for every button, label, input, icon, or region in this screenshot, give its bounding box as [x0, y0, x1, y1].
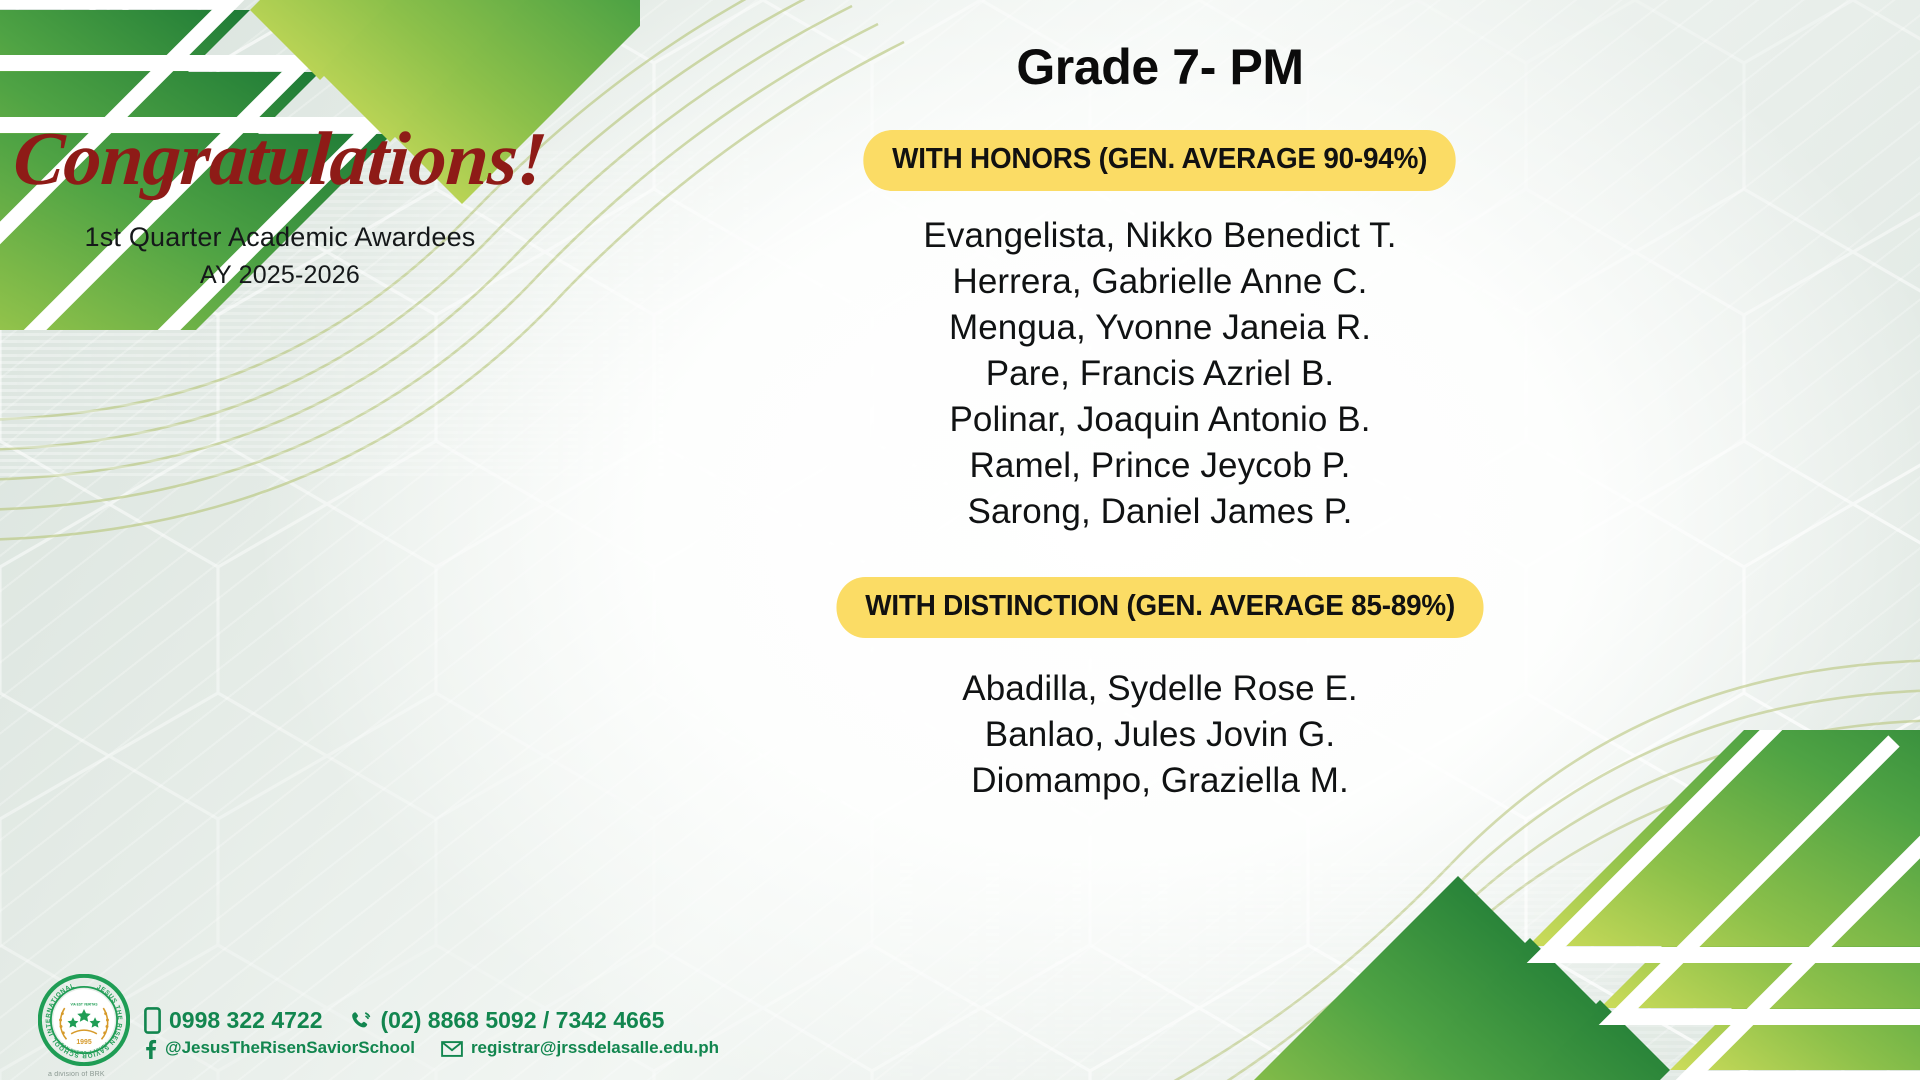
- honors-name-list: Evangelista, Nikko Benedict T. Herrera, …: [660, 213, 1660, 535]
- list-item: Polinar, Joaquin Antonio B.: [660, 397, 1660, 443]
- list-item: Sarong, Daniel James P.: [660, 489, 1660, 535]
- list-item: Ramel, Prince Jeycob P.: [660, 443, 1660, 489]
- contact-details: 0998 322 4722 (02) 8868 5092 / 7342 4665: [144, 1006, 719, 1066]
- page-title: Grade 7- PM: [660, 38, 1660, 96]
- contact-row-social: @JesusTheRisenSaviorSchool registrar@jrs…: [144, 1037, 719, 1060]
- seal-motto: VIA EST VERITAS: [70, 1002, 98, 1006]
- congratulations-heading: Congratulations!: [0, 120, 563, 200]
- landline-number-text: (02) 8868 5092 / 7342 4665: [381, 1006, 665, 1035]
- email-address-text: registrar@jrssdelasalle.edu.ph: [471, 1037, 719, 1060]
- list-item: Abadilla, Sydelle Rose E.: [660, 666, 1660, 712]
- status-badge-with-distinction: WITH DISTINCTION (GEN. AVERAGE 85-89%): [836, 577, 1483, 638]
- award-subtitle-line-1: 1st Quarter Academic Awardees: [0, 222, 560, 253]
- distinction-name-list: Abadilla, Sydelle Rose E. Banlao, Jules …: [660, 666, 1660, 804]
- school-seal-logo: JESUS THE RISEN SAVIOR SCHOOL INTERNATIO…: [38, 974, 130, 1066]
- telephone-icon: [349, 1009, 373, 1033]
- facebook-icon: [144, 1039, 157, 1059]
- contact-row-phones: 0998 322 4722 (02) 8868 5092 / 7342 4665: [144, 1006, 719, 1035]
- poster-canvas: Congratulations! 1st Quarter Academic Aw…: [0, 0, 1920, 1080]
- envelope-icon: [441, 1041, 463, 1057]
- academic-year-line: AY 2025-2026: [0, 261, 560, 290]
- status-badge-with-honors: WITH HONORS (GEN. AVERAGE 90-94%): [864, 130, 1457, 191]
- footer-contact-bar: JESUS THE RISEN SAVIOR SCHOOL INTERNATIO…: [38, 974, 719, 1066]
- awardees-main-column: Grade 7- PM WITH HONORS (GEN. AVERAGE 90…: [660, 0, 1660, 1080]
- list-item: Evangelista, Nikko Benedict T.: [660, 213, 1660, 259]
- list-item: Diomampo, Graziella M.: [660, 758, 1660, 804]
- brk-credit-text: a division of BRK: [48, 1071, 105, 1078]
- left-headline-block: Congratulations! 1st Quarter Academic Aw…: [0, 120, 560, 290]
- section-distinction-badge-wrap: WITH DISTINCTION (GEN. AVERAGE 85-89%): [660, 577, 1660, 638]
- seal-year: 1995: [76, 1039, 91, 1046]
- section-honors-badge-wrap: WITH HONORS (GEN. AVERAGE 90-94%): [660, 130, 1660, 191]
- list-item: Pare, Francis Azriel B.: [660, 351, 1660, 397]
- list-item: Herrera, Gabrielle Anne C.: [660, 259, 1660, 305]
- facebook-handle-text: @JesusTheRisenSaviorSchool: [165, 1037, 415, 1060]
- mobile-phone-icon: [144, 1007, 161, 1034]
- mobile-number-text: 0998 322 4722: [169, 1006, 323, 1035]
- list-item: Banlao, Jules Jovin G.: [660, 712, 1660, 758]
- list-item: Mengua, Yvonne Janeia R.: [660, 305, 1660, 351]
